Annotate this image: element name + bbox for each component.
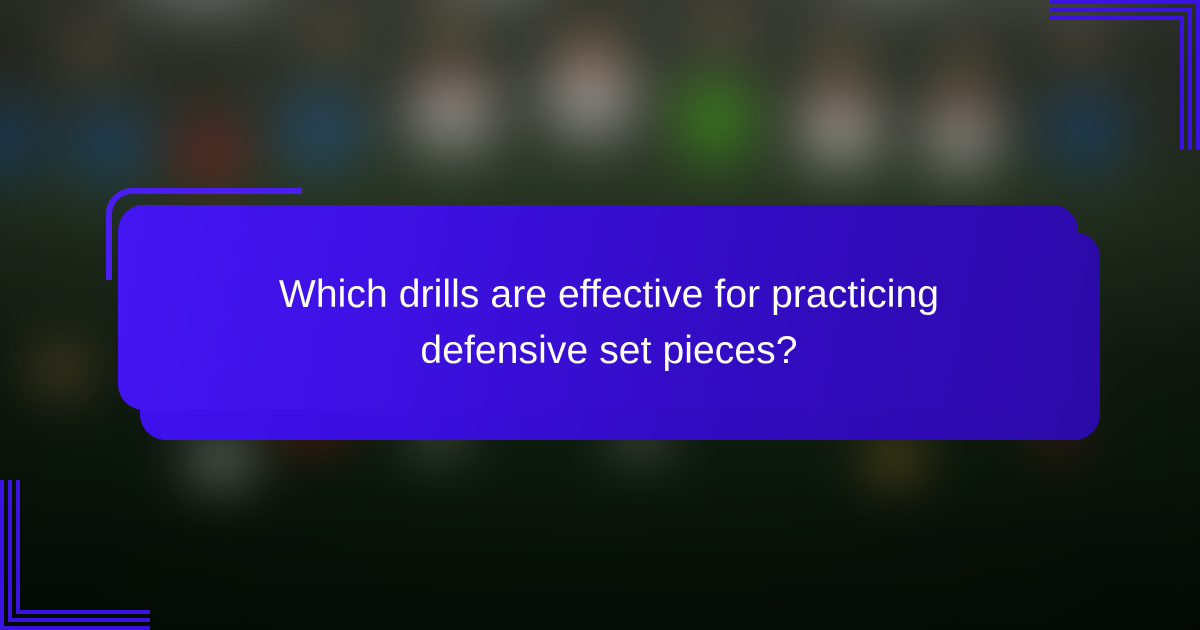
question-text: Which drills are effective for practicin… (229, 267, 989, 378)
question-card-content: Which drills are effective for practicin… (118, 205, 1100, 440)
social-card-stage: Which drills are effective for practicin… (0, 0, 1200, 630)
